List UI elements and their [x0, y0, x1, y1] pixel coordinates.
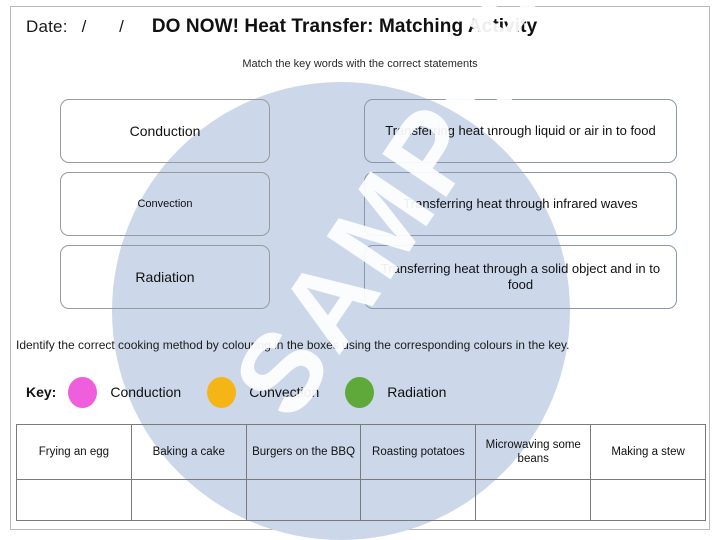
table-header-row: Frying an egg Baking a cake Burgers on t… — [17, 425, 706, 480]
date-label: Date: — [26, 17, 68, 37]
matching-activity: Conduction Convection Radiation Transfer… — [0, 99, 720, 325]
statement-column: Transferring heat through liquid or air … — [364, 99, 677, 318]
key-item-label: Radiation — [387, 384, 446, 400]
cooking-methods-table: Frying an egg Baking a cake Burgers on t… — [16, 424, 706, 521]
worksheet-content: Date: / / DO NOW! Heat Transfer: Matchin… — [0, 0, 720, 539]
header-row: Date: / / DO NOW! Heat Transfer: Matchin… — [26, 16, 537, 38]
table-header-cell: Frying an egg — [17, 425, 132, 480]
table-answer-row — [17, 480, 706, 521]
answer-cell[interactable] — [131, 480, 246, 521]
table-header-cell: Microwaving some beans — [476, 425, 591, 480]
answer-cell[interactable] — [591, 480, 706, 521]
answer-cell[interactable] — [361, 480, 476, 521]
colouring-instruction: Identify the correct cooking method by c… — [16, 338, 708, 352]
key-item-convection: Convection — [207, 377, 319, 408]
conduction-colour-swatch — [68, 377, 97, 408]
key-item-label: Convection — [249, 384, 319, 400]
answer-cell[interactable] — [476, 480, 591, 521]
statement-box-2[interactable]: Transferring heat through infrared waves — [364, 172, 677, 236]
key-label: Key: — [26, 384, 56, 400]
worksheet-page: Date: / / DO NOW! Heat Transfer: Matchin… — [0, 0, 720, 539]
answer-cell[interactable] — [17, 480, 132, 521]
activity-subtitle: Match the key words with the correct sta… — [0, 58, 720, 70]
key-item-label: Conduction — [110, 384, 181, 400]
table-header-cell: Roasting potatoes — [361, 425, 476, 480]
keyword-column: Conduction Convection Radiation — [60, 99, 270, 318]
keyword-box-radiation[interactable]: Radiation — [60, 245, 270, 309]
date-blank-field[interactable]: / / — [82, 17, 138, 37]
convection-colour-swatch — [207, 377, 236, 408]
colour-key: Key: Conduction Convection Radiation — [26, 375, 472, 409]
table-header-cell: Burgers on the BBQ — [246, 425, 361, 480]
radiation-colour-swatch — [345, 377, 374, 408]
statement-box-3[interactable]: Transferring heat through a solid object… — [364, 245, 677, 309]
table-header-cell: Making a stew — [591, 425, 706, 480]
answer-cell[interactable] — [246, 480, 361, 521]
keyword-box-convection[interactable]: Convection — [60, 172, 270, 236]
keyword-box-conduction[interactable]: Conduction — [60, 99, 270, 163]
statement-box-1[interactable]: Transferring heat through liquid or air … — [364, 99, 677, 163]
table-header-cell: Baking a cake — [131, 425, 246, 480]
key-item-radiation: Radiation — [345, 377, 446, 408]
page-title: DO NOW! Heat Transfer: Matching Activity — [152, 16, 537, 38]
key-item-conduction: Conduction — [68, 377, 181, 408]
